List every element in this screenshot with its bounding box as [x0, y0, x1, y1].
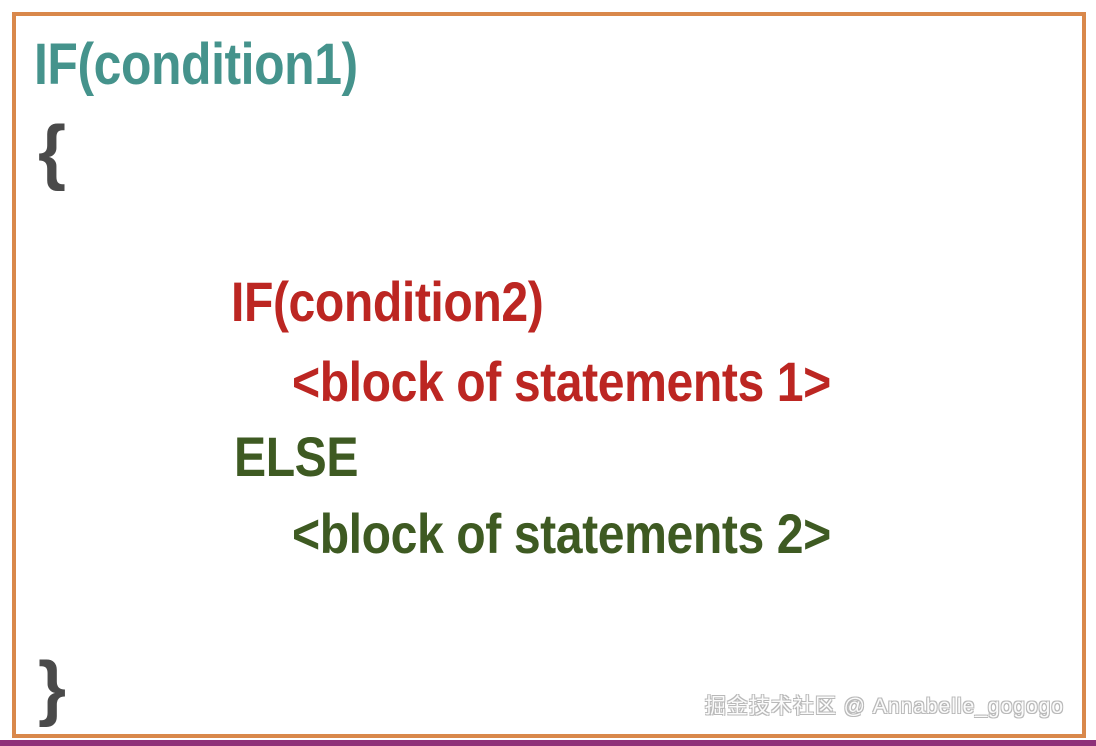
bottom-accent-strip [0, 740, 1096, 746]
screenshot-root: IF(condition1) { IF(condition2) <block o… [0, 0, 1096, 746]
code-line-if-condition1: IF(condition1) [34, 36, 358, 94]
code-line-block-of-statements-1: <block of statements 1> [292, 354, 831, 410]
code-line-block-of-statements-2: <block of statements 2> [292, 506, 831, 562]
code-open-brace: { [38, 116, 66, 188]
code-close-brace: } [38, 652, 66, 724]
code-line-else: ELSE [234, 429, 358, 485]
pseudocode-card: IF(condition1) { IF(condition2) <block o… [12, 12, 1086, 738]
pseudocode-block: IF(condition1) { IF(condition2) <block o… [16, 16, 1082, 734]
watermark-text: 掘金技术社区 @ Annabelle_gogogo [705, 690, 1064, 720]
code-line-if-condition2: IF(condition2) [231, 274, 543, 330]
